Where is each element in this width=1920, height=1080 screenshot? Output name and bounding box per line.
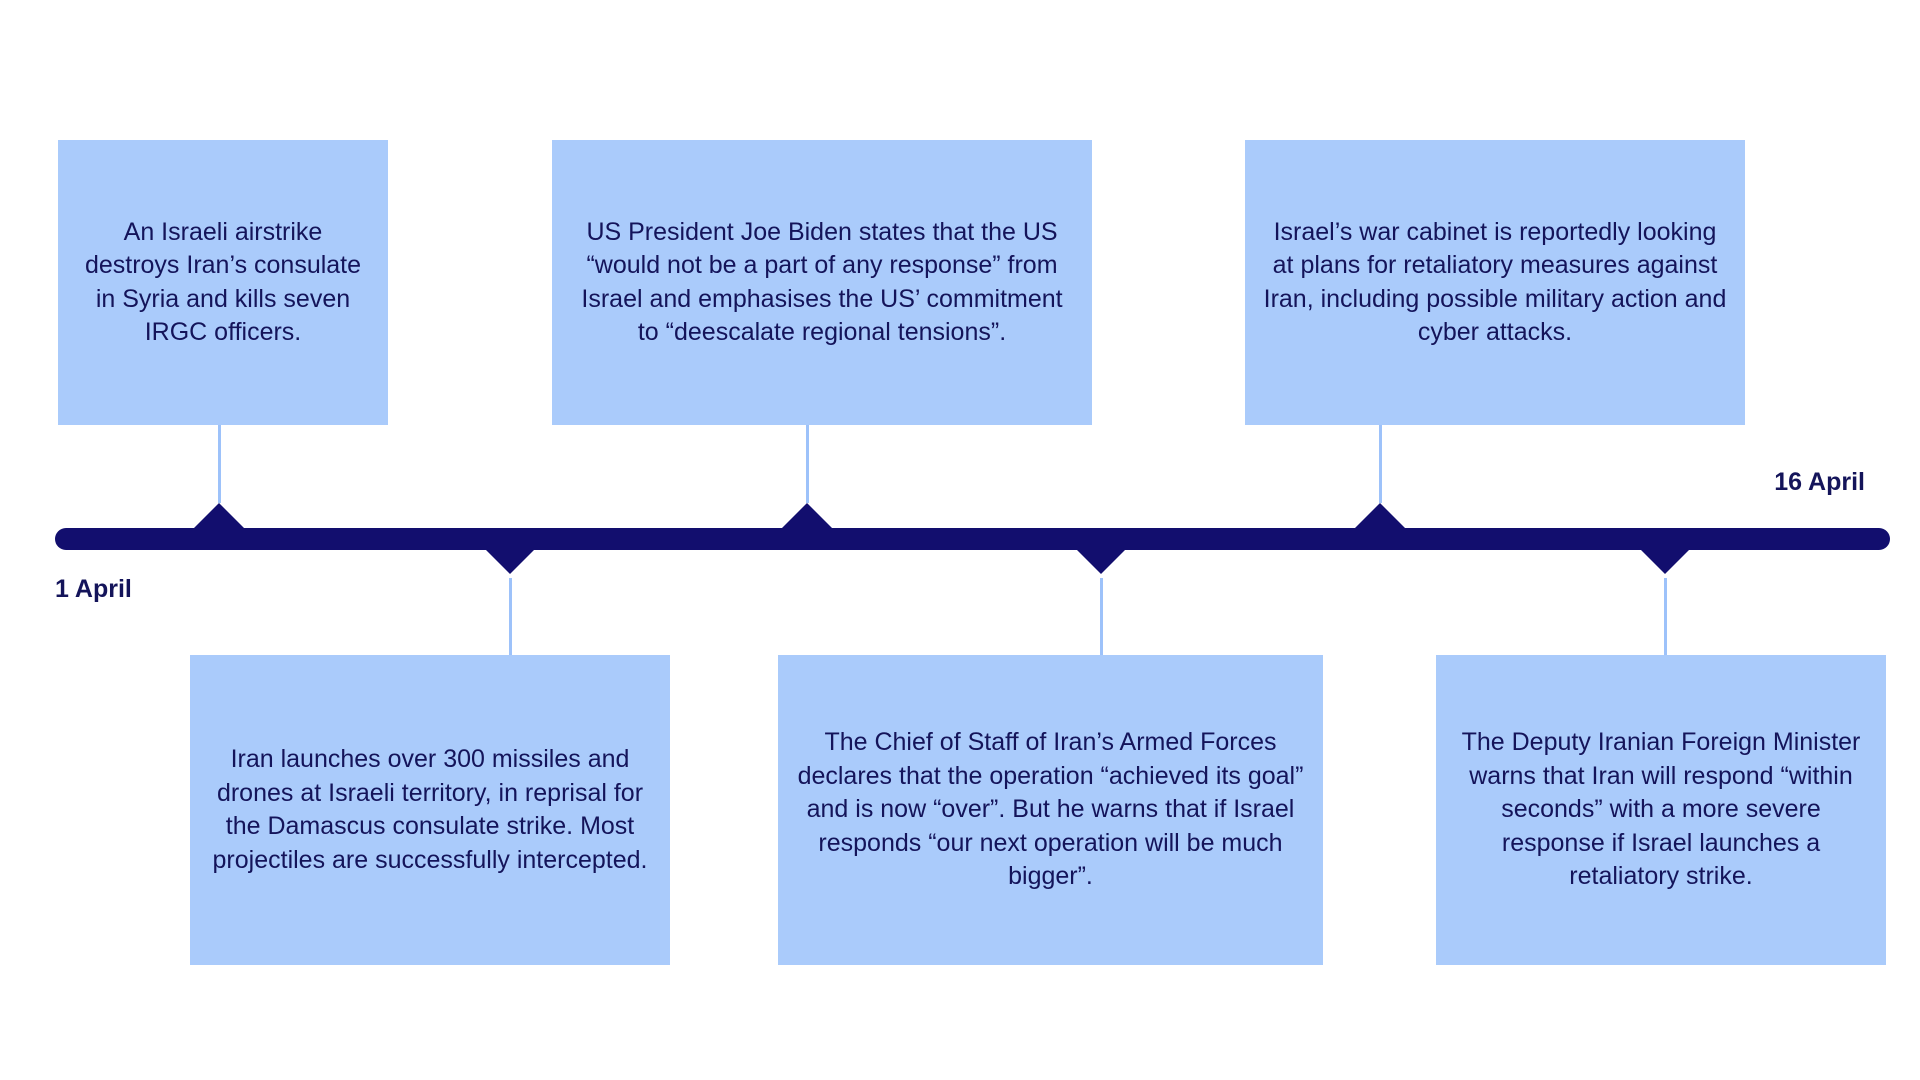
event-card-1: An Israeli airstrike destroys Iran’s con… (58, 140, 388, 425)
timeline-marker-1[interactable] (193, 503, 245, 529)
event-card-3-text: US President Joe Biden states that the U… (570, 216, 1074, 350)
connector-stem-1 (218, 425, 221, 503)
connector-stem-3 (806, 425, 809, 503)
timeline-marker-4[interactable] (1075, 548, 1127, 574)
event-card-2-text: Iran launches over 300 missiles and dron… (208, 743, 652, 877)
timeline-marker-5[interactable] (1354, 503, 1406, 529)
event-card-4: The Chief of Staff of Iran’s Armed Force… (778, 655, 1323, 965)
event-card-5-text: Israel’s war cabinet is reportedly looki… (1263, 216, 1727, 350)
event-card-6: The Deputy Iranian Foreign Minister warn… (1436, 655, 1886, 965)
timeline-marker-3[interactable] (781, 503, 833, 529)
connector-stem-6 (1664, 578, 1667, 655)
timeline-axis-bar (55, 528, 1890, 550)
timeline-marker-2[interactable] (484, 548, 536, 574)
connector-stem-5 (1379, 425, 1382, 503)
timeline-diagram: An Israeli airstrike destroys Iran’s con… (0, 0, 1920, 1080)
timeline-marker-6[interactable] (1639, 548, 1691, 574)
event-card-1-text: An Israeli airstrike destroys Iran’s con… (76, 216, 370, 350)
event-card-6-text: The Deputy Iranian Foreign Minister warn… (1454, 726, 1868, 894)
connector-stem-2 (509, 578, 512, 655)
event-card-5: Israel’s war cabinet is reportedly looki… (1245, 140, 1745, 425)
event-card-2: Iran launches over 300 missiles and dron… (190, 655, 670, 965)
timeline-start-date-label: 1 April (55, 575, 132, 604)
timeline-end-date-label: 16 April (1774, 468, 1865, 497)
event-card-4-text: The Chief of Staff of Iran’s Armed Force… (796, 726, 1305, 894)
event-card-3: US President Joe Biden states that the U… (552, 140, 1092, 425)
connector-stem-4 (1100, 578, 1103, 655)
